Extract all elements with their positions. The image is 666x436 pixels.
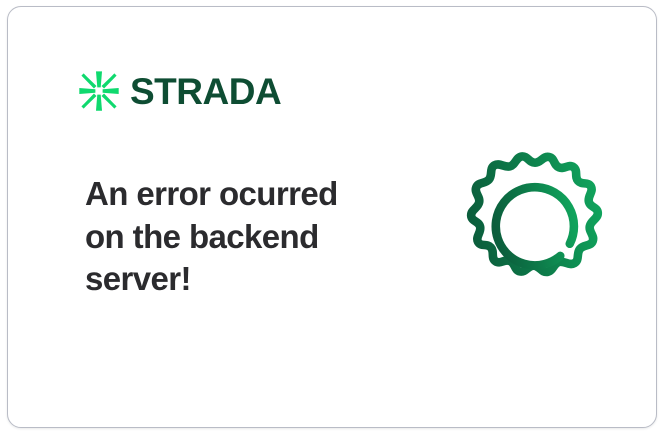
error-message: An error ocurred on the backend server! xyxy=(85,173,385,301)
strada-asterisk-icon xyxy=(78,70,120,112)
gear-icon xyxy=(454,147,616,310)
brand-logo: STRADA xyxy=(78,70,281,112)
error-screen: STRADA An error ocurred on the backend s… xyxy=(0,0,666,436)
error-card: STRADA An error ocurred on the backend s… xyxy=(7,6,657,428)
brand-wordmark: STRADA xyxy=(130,73,281,110)
